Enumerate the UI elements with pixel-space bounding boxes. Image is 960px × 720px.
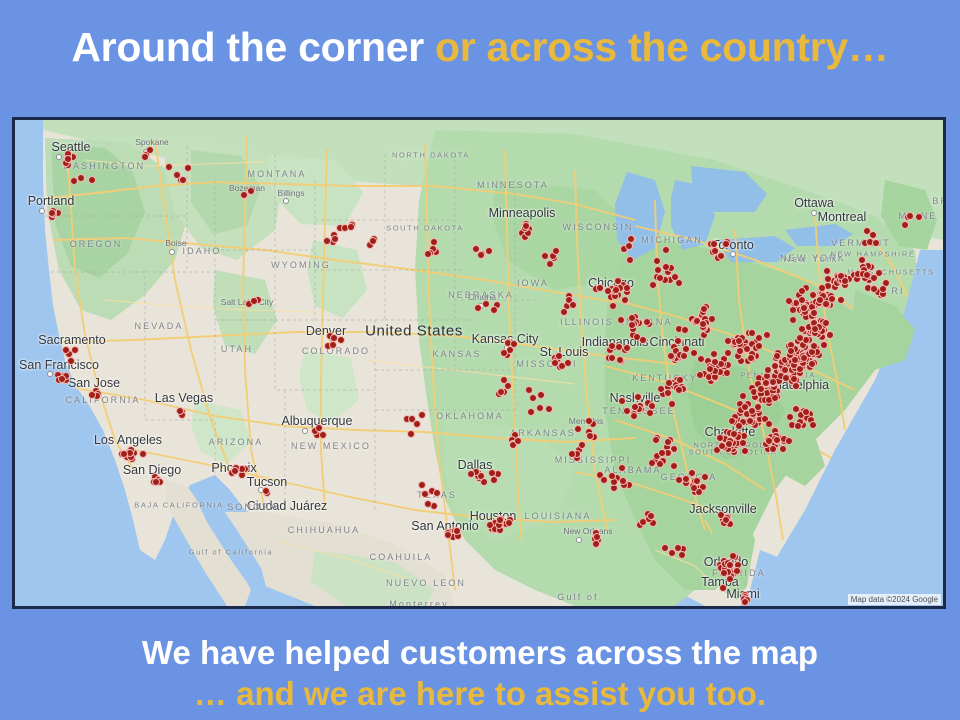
customer-marker (765, 437, 773, 445)
customer-marker (552, 247, 560, 255)
customer-marker (648, 459, 656, 467)
customer-marker (653, 257, 661, 265)
customer-marker (618, 464, 626, 472)
customer-marker (546, 260, 554, 268)
map-attribution: Map data ©2024 Google (848, 594, 941, 605)
customer-marker (810, 342, 818, 350)
customer-marker (722, 240, 730, 248)
customer-marker (769, 445, 777, 453)
city-dot (730, 251, 736, 257)
customer-marker (510, 340, 518, 348)
customer-marker (699, 320, 707, 328)
customer-marker (706, 365, 714, 373)
customer-marker (697, 355, 705, 363)
customer-marker (785, 437, 793, 445)
customer-marker (872, 239, 880, 247)
customer-marker (612, 286, 620, 294)
customer-marker (808, 360, 816, 368)
customer-marker (662, 263, 670, 271)
customer-marker (500, 349, 508, 357)
city-dot (169, 249, 175, 255)
slide-root: Around the corner or across the country… (0, 0, 960, 720)
customer-marker (424, 500, 432, 508)
city-dot (47, 371, 53, 377)
customer-marker (240, 191, 248, 199)
customer-marker (179, 176, 187, 184)
customer-marker (824, 275, 832, 283)
customer-marker (720, 569, 728, 577)
customer-marker (88, 391, 96, 399)
customer-marker (809, 421, 817, 429)
customer-marker (741, 598, 749, 606)
customer-marker (608, 472, 616, 480)
customer-marker (247, 187, 255, 195)
customer-marker (525, 386, 533, 394)
customer-marker (608, 354, 616, 362)
customer-marker (811, 325, 819, 333)
customer-marker (676, 376, 684, 384)
customer-marker (785, 297, 793, 305)
customer-marker (48, 209, 56, 217)
customer-marker (331, 235, 339, 243)
customer-marker (564, 359, 572, 367)
customer-marker (88, 176, 96, 184)
customer-marker (485, 247, 493, 255)
customer-marker (791, 356, 799, 364)
customer-marker (634, 393, 642, 401)
customer-marker (690, 484, 698, 492)
customer-marker (681, 326, 689, 334)
customer-marker (701, 473, 709, 481)
customer-marker (741, 447, 749, 455)
customer-marker (649, 281, 657, 289)
customer-marker (71, 346, 79, 354)
customer-marker (657, 385, 665, 393)
customer-marker (453, 527, 461, 535)
customer-marker (743, 345, 751, 353)
customer-marker (664, 438, 672, 446)
customer-marker (231, 467, 239, 475)
customer-marker (555, 352, 563, 360)
customer-marker (662, 246, 670, 254)
customer-marker (337, 336, 345, 344)
customer-marker (747, 354, 755, 362)
customer-marker (407, 430, 415, 438)
customer-marker (796, 334, 804, 342)
customer-marker (786, 413, 794, 421)
customer-marker (418, 411, 426, 419)
headline-gold-text: or across the country… (435, 24, 889, 70)
customer-marker (514, 437, 522, 445)
customer-marker (870, 285, 878, 293)
customer-marker (628, 321, 636, 329)
customer-marker (527, 408, 535, 416)
customer-marker (330, 334, 338, 342)
customer-marker (735, 337, 743, 345)
customer-marker (616, 356, 624, 364)
customer-marker (626, 256, 634, 264)
customer-marker (146, 146, 154, 154)
customer-marker (467, 470, 475, 478)
customer-marker (319, 431, 327, 439)
customer-marker (823, 267, 831, 275)
customer-marker (661, 544, 669, 552)
customer-marker (618, 397, 626, 405)
customer-marker (879, 285, 887, 293)
city-dot (56, 154, 62, 160)
customer-marker (675, 386, 683, 394)
customer-marker (828, 295, 836, 303)
customer-marker (609, 302, 617, 310)
customer-marker (600, 476, 608, 484)
customer-marker (779, 445, 787, 453)
city-dot (39, 208, 45, 214)
customer-marker (800, 304, 808, 312)
customer-marker (58, 375, 66, 383)
customer-marker (643, 318, 651, 326)
customer-marker (176, 407, 184, 415)
customer-marker (70, 177, 78, 185)
customer-marker (656, 274, 664, 282)
customer-marker (621, 296, 629, 304)
map-canvas[interactable]: SeattleSpokanePortlandBoiseBillingsBozem… (15, 120, 943, 606)
customer-marker (574, 425, 582, 433)
customer-marker (536, 404, 544, 412)
customer-marker (545, 405, 553, 413)
customer-marker (719, 584, 727, 592)
headline-white-text: Around the corner (71, 24, 435, 70)
customer-marker (769, 378, 777, 386)
customer-marker (569, 301, 577, 309)
customer-marker (733, 567, 741, 575)
customer-marker (658, 449, 666, 457)
customer-marker (680, 352, 688, 360)
footer-text-block: We have helped customers across the map … (0, 632, 960, 715)
customer-marker (617, 316, 625, 324)
customer-marker (678, 551, 686, 559)
customer-marker (726, 561, 734, 569)
customer-marker (608, 342, 616, 350)
customer-marker (802, 408, 810, 416)
customer-marker (858, 256, 866, 264)
customer-marker (665, 379, 673, 387)
customer-marker (578, 441, 586, 449)
customer-marker (488, 469, 496, 477)
customer-marker (726, 575, 734, 583)
customer-marker (739, 392, 747, 400)
customer-marker (482, 300, 490, 308)
city-dot (283, 198, 289, 204)
customer-marker (628, 314, 636, 322)
customer-marker (771, 394, 779, 402)
customer-marker (700, 305, 708, 313)
city-dot (302, 428, 308, 434)
customer-marker (490, 306, 498, 314)
customer-marker (690, 349, 698, 357)
customer-marker (262, 487, 270, 495)
customer-marker (729, 552, 737, 560)
customer-marker (625, 242, 633, 250)
page-title: Around the corner or across the country… (0, 24, 960, 71)
customer-marker (504, 382, 512, 390)
customer-marker (139, 450, 147, 458)
customer-marker (822, 319, 830, 327)
customer-marker (765, 420, 773, 428)
customer-marker (64, 155, 72, 163)
customer-marker (586, 432, 594, 440)
customer-marker (560, 308, 568, 316)
customer-marker (623, 284, 631, 292)
customer-marker (820, 341, 828, 349)
customer-marker (444, 531, 452, 539)
customer-marker (347, 223, 355, 231)
customer-marker (496, 516, 504, 524)
customer-marker (369, 237, 377, 245)
customer-marker (630, 412, 638, 420)
customer-marker (722, 516, 730, 524)
city-dot (576, 537, 582, 543)
customer-marker (424, 250, 432, 258)
customer-marker (755, 342, 763, 350)
customer-marker (735, 422, 743, 430)
customer-marker (619, 477, 627, 485)
customer-marker (781, 366, 789, 374)
customer-marker (674, 337, 682, 345)
footer-line-2: … and we are here to assist you too. (0, 673, 960, 714)
customer-marker (486, 521, 494, 529)
customer-marker (477, 251, 485, 259)
customer-marker (631, 403, 639, 411)
customer-marker (798, 296, 806, 304)
city-dot (811, 210, 817, 216)
customer-marker (708, 315, 716, 323)
customer-marker (505, 519, 513, 527)
customer-marker (568, 450, 576, 458)
customer-marker (652, 436, 660, 444)
customer-marker (408, 415, 416, 423)
customer-marker (798, 287, 806, 295)
customer-marker (818, 284, 826, 292)
customer-marker (668, 400, 676, 408)
customer-marker (639, 518, 647, 526)
customer-marker (789, 306, 797, 314)
customer-marker (474, 304, 482, 312)
customer-marker (696, 371, 704, 379)
customer-marker (585, 417, 593, 425)
customer-marker (810, 309, 818, 317)
customer-marker (748, 407, 756, 415)
customer-marker (593, 533, 601, 541)
customer-marker (792, 382, 800, 390)
customer-marker (789, 316, 797, 324)
customer-marker (497, 388, 505, 396)
customer-marker (717, 252, 725, 260)
customer-marker (250, 297, 258, 305)
customer-marker (184, 164, 192, 172)
customer-marker (646, 409, 654, 417)
customer-marker (418, 481, 426, 489)
customer-marker (682, 475, 690, 483)
customer-marker (841, 277, 849, 285)
customer-marker (710, 240, 718, 248)
customer-marker (537, 391, 545, 399)
customer-marker (718, 442, 726, 450)
customer-marker (787, 347, 795, 355)
customer-marker (639, 336, 647, 344)
customer-marker (739, 439, 747, 447)
customer-marker (522, 222, 530, 230)
customer-marker (730, 430, 738, 438)
customer-marker (433, 489, 441, 497)
customer-marker (757, 385, 765, 393)
customer-marker (596, 284, 604, 292)
customer-marker (863, 271, 871, 279)
customer-marker (763, 331, 771, 339)
customer-marker (62, 346, 70, 354)
customer-marker (782, 374, 790, 382)
footer-line-1: We have helped customers across the map (0, 632, 960, 673)
customer-marker (837, 296, 845, 304)
customer-marker (152, 478, 160, 486)
customer-marker (656, 460, 664, 468)
customer-marker (551, 359, 559, 367)
customer-marker (670, 462, 678, 470)
customer-marker (165, 163, 173, 171)
customer-marker (800, 354, 808, 362)
customer-marker (773, 352, 781, 360)
customer-marker (647, 512, 655, 520)
customer-marker (906, 212, 914, 220)
customer-marker (623, 344, 631, 352)
customer-marker (773, 436, 781, 444)
us-customer-map[interactable]: SeattleSpokanePortlandBoiseBillingsBozem… (12, 117, 946, 609)
customer-marker (794, 422, 802, 430)
customer-marker (748, 329, 756, 337)
customer-marker (901, 221, 909, 229)
customer-marker (826, 331, 834, 339)
customer-marker (120, 450, 128, 458)
customer-marker (173, 171, 181, 179)
customer-marker (716, 434, 724, 442)
customer-marker (746, 417, 754, 425)
customer-marker (675, 279, 683, 287)
customer-marker (915, 213, 923, 221)
